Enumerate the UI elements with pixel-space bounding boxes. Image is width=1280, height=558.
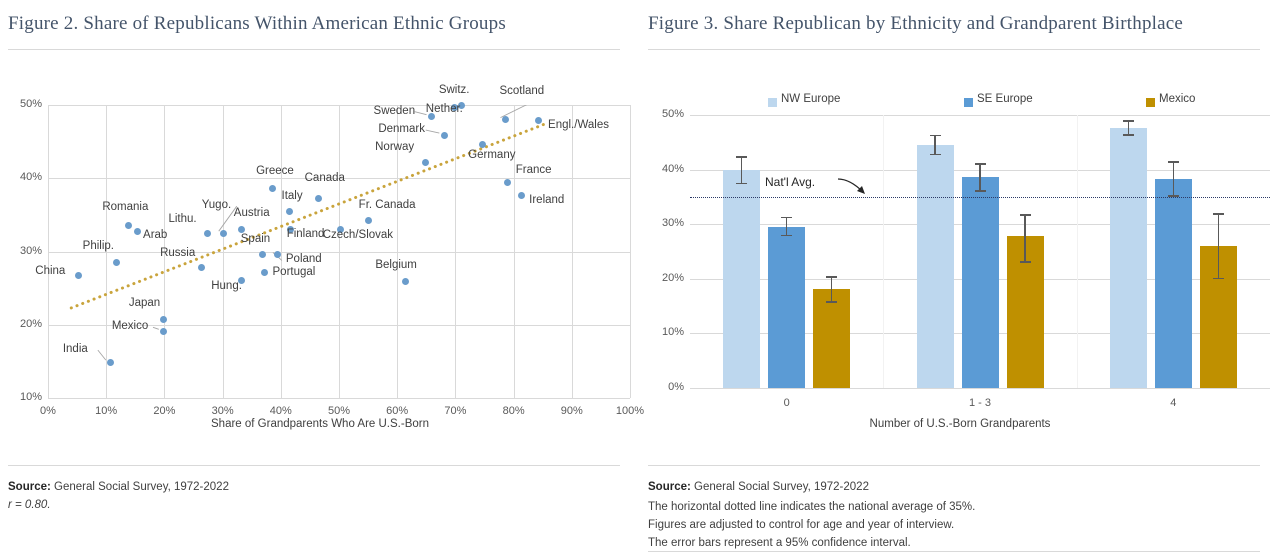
figure-3-note-3: The error bars represent a 95% confidenc… (648, 537, 911, 549)
x-axis-tick-label: 70% (433, 405, 477, 417)
scatter-point-label: Japan (129, 297, 160, 309)
x-axis-tick-label: 0 (690, 397, 883, 409)
national-average-arrow-icon (836, 176, 876, 200)
figure-2-correlation: r = 0.80. (8, 499, 51, 511)
error-bar-cap-top (1020, 214, 1031, 216)
scatter-point-lithu (204, 230, 211, 237)
scatter-point-label: Engl./Wales (548, 119, 609, 131)
y-axis-tick-label: 50% (12, 98, 42, 110)
category-divider (883, 115, 884, 388)
x-axis-tick-label: 40% (259, 405, 303, 417)
scatter-point-engl-wales (535, 117, 542, 124)
national-average-annotation: Nat'l Avg. (765, 175, 815, 189)
error-bar-cap-bottom (826, 301, 837, 303)
figure-2-title: Figure 2. Share of Republicans Within Am… (8, 13, 506, 35)
y-axis-tick-label: 40% (652, 163, 684, 175)
gridline-horizontal (48, 398, 630, 399)
scatter-point-label: Lithu. (168, 213, 196, 225)
scatter-point-india (107, 359, 114, 366)
figure-2-panel: Figure 2. Share of Republicans Within Am… (0, 0, 640, 558)
scatter-point-label: China (35, 265, 65, 277)
figure-3-note-2: Figures are adjusted to control for age … (648, 519, 954, 531)
legend-label-mexico: Mexico (1159, 93, 1195, 105)
scatter-point-label: Hung. (211, 280, 242, 292)
figure-3-title: Figure 3. Share Republican by Ethnicity … (648, 13, 1183, 35)
error-bar (1218, 213, 1220, 279)
legend-swatch-nw-europe (768, 98, 777, 107)
bar-nw-europe-0 (723, 170, 760, 388)
scatter-point-label: Belgium (375, 259, 417, 271)
gridline-vertical (630, 105, 631, 398)
scatter-point-label: Sweden (374, 105, 416, 117)
bar-nw-europe-4 (1110, 128, 1147, 388)
national-average-line (690, 197, 1270, 198)
scatter-point-romania (125, 222, 132, 229)
y-axis-tick-label: 10% (652, 326, 684, 338)
error-bar-cap-bottom (1123, 134, 1134, 136)
y-axis-tick-label: 20% (652, 272, 684, 284)
scatter-point-label: Spain (241, 233, 270, 245)
scatter-point-label: Switz. (439, 84, 470, 96)
error-bar-cap-top (781, 217, 792, 219)
y-axis-tick-label: 0% (652, 381, 684, 393)
error-bar (934, 135, 936, 156)
figure-3-footer-rule (648, 465, 1260, 466)
error-bar-cap-top (1168, 161, 1179, 163)
bar-se-europe-0 (768, 227, 805, 388)
scatter-point-ireland (518, 192, 525, 199)
label-leader-lines (48, 105, 630, 398)
error-bar-cap-bottom (736, 183, 747, 185)
figure-2-footer-rule (8, 465, 620, 466)
bar-mexico-0 (813, 289, 850, 388)
scatter-point-label: Czech/Slovak (323, 229, 393, 241)
figure-3-bottom-rule (648, 551, 1260, 552)
error-bar-cap-top (975, 163, 986, 165)
scatter-point-label: Nether. (426, 103, 463, 115)
error-bar-cap-top (1123, 120, 1134, 122)
scatter-point-label: Norway (375, 141, 414, 153)
scatter-point-label: France (516, 164, 552, 176)
x-axis-tick-label: 90% (550, 405, 594, 417)
gridline-horizontal (690, 388, 1270, 389)
bar-se-europe-1-3 (962, 177, 999, 388)
figure-3-xaxis-title: Number of U.S.-Born Grandparents (640, 418, 1280, 430)
legend-label-se-europe: SE Europe (977, 93, 1033, 105)
error-bar (1024, 214, 1026, 263)
error-bar (1173, 161, 1175, 196)
scatter-point-norway (422, 159, 429, 166)
scatter-point-label: Yugo. (202, 199, 231, 211)
scatter-point-label: Greece (256, 165, 294, 177)
scatter-point-label: Ireland (529, 194, 564, 206)
figure-3-source: Source: General Social Survey, 1972-2022 (648, 481, 869, 493)
legend-swatch-se-europe (964, 98, 973, 107)
scatter-point-label: Mexico (112, 320, 148, 332)
figure-2-xaxis-title: Share of Grandparents Who Are U.S.-Born (0, 418, 640, 430)
bar-se-europe-4 (1155, 179, 1192, 388)
legend-label-nw-europe: NW Europe (781, 93, 840, 105)
scatter-point-belgium (402, 278, 409, 285)
y-axis-tick-label: 40% (12, 171, 42, 183)
figure-2-source: Source: General Social Survey, 1972-2022 (8, 481, 229, 493)
scatter-point-label: India (63, 343, 88, 355)
x-axis-tick-label: 10% (84, 405, 128, 417)
scatter-point-label: Austria (234, 207, 270, 219)
figure-3-title-rule (648, 49, 1260, 50)
y-axis-tick-label: 50% (652, 108, 684, 120)
scatter-point-label: Italy (282, 190, 303, 202)
scatter-point-label: Romania (102, 201, 148, 213)
figure-2-correlation-text: r = 0.80. (8, 499, 51, 511)
error-bar-cap-bottom (930, 154, 941, 156)
figure-2-source-label: Source: (8, 481, 51, 493)
figure-3-source-label: Source: (648, 481, 691, 493)
y-axis-tick-label: 20% (12, 318, 42, 330)
error-bar (741, 156, 743, 184)
bar-plot-area: 0%10%20%30%40%50%01 - 34NW EuropeSE Euro… (690, 115, 1270, 388)
y-axis-tick-label: 30% (12, 245, 42, 257)
scatter-point-arab (134, 228, 141, 235)
figure-2-source-text: General Social Survey, 1972-2022 (51, 481, 229, 493)
category-divider (1077, 115, 1078, 388)
scatter-point-label: Philip. (83, 240, 114, 252)
scatter-point-label: Russia (160, 247, 195, 259)
scatter-point-label: Canada (305, 172, 345, 184)
error-bar-cap-bottom (975, 190, 986, 192)
bar-nw-europe-1-3 (917, 145, 954, 388)
scatter-point-russia (198, 264, 205, 271)
gridline-horizontal (690, 115, 1270, 116)
error-bar-cap-bottom (1020, 261, 1031, 263)
scatter-point-label: Finland (287, 228, 325, 240)
y-axis-tick-label: 30% (652, 217, 684, 229)
error-bar (979, 163, 981, 192)
x-axis-tick-label: 0% (26, 405, 70, 417)
figure-2-title-rule (8, 49, 620, 50)
error-bar (786, 217, 788, 237)
x-axis-tick-label: 30% (201, 405, 245, 417)
error-bar-cap-top (736, 156, 747, 158)
x-axis-tick-label: 50% (317, 405, 361, 417)
error-bar (831, 276, 833, 303)
scatter-point-label: Scotland (499, 85, 544, 97)
legend-swatch-mexico (1146, 98, 1155, 107)
figure-3-note-1: The horizontal dotted line indicates the… (648, 501, 975, 513)
x-axis-tick-label: 60% (375, 405, 419, 417)
scatter-point-portugal (261, 269, 268, 276)
scatter-point-greece (269, 185, 276, 192)
scatter-point-china (75, 272, 82, 279)
scatter-point-denmark (441, 132, 448, 139)
error-bar-cap-bottom (1213, 278, 1224, 280)
scatter-plot-area: 10%20%30%40%50%0%10%20%30%40%50%60%70%80… (48, 105, 630, 398)
scatter-point-label: Germany (468, 149, 515, 161)
y-axis-tick-label: 10% (12, 391, 42, 403)
figure-3-source-text: General Social Survey, 1972-2022 (691, 481, 869, 493)
error-bar-cap-bottom (781, 235, 792, 237)
scatter-point-label: Denmark (378, 123, 425, 135)
error-bar-cap-top (930, 135, 941, 137)
scatter-point-yugo (220, 230, 227, 237)
x-axis-tick-label: 4 (1077, 397, 1270, 409)
error-bar-cap-top (826, 276, 837, 278)
x-axis-tick-label: 20% (142, 405, 186, 417)
figure-3-panel: Figure 3. Share Republican by Ethnicity … (640, 0, 1280, 558)
scatter-point-label: Fr. Canada (359, 199, 416, 211)
scatter-point-label: Portugal (273, 266, 316, 278)
scatter-point-label: Poland (286, 253, 322, 265)
x-axis-tick-label: 1 - 3 (883, 397, 1076, 409)
scatter-point-label: Arab (143, 229, 167, 241)
x-axis-tick-label: 80% (492, 405, 536, 417)
error-bar-cap-top (1213, 213, 1224, 215)
scatter-point-germany (479, 141, 486, 148)
